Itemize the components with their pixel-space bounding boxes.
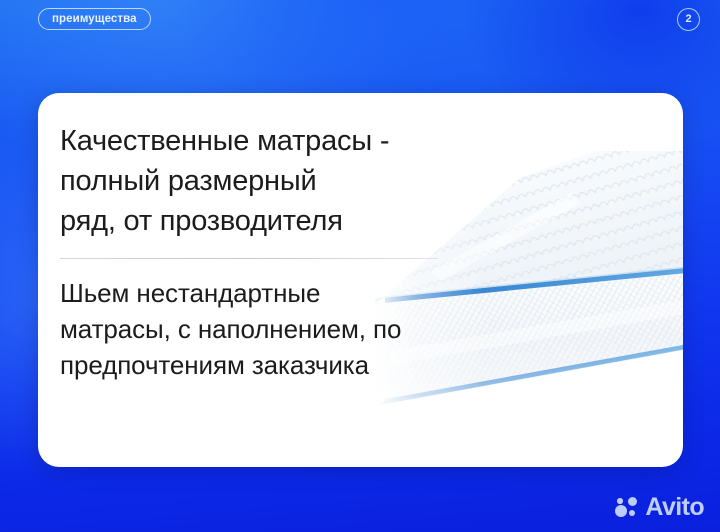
slide-number-label: 2 (685, 14, 691, 25)
avito-wordmark: Avito (645, 495, 704, 520)
content-card: Качественные матрасы - полный размерный … (38, 93, 683, 467)
avito-watermark: Avito (615, 495, 704, 520)
headline: Качественные матрасы - полный размерный … (60, 121, 580, 241)
slide-number-badge: 2 (677, 8, 700, 31)
category-badge-label: преимущества (52, 13, 137, 25)
category-badge: преимущества (38, 8, 151, 30)
subtext: Шьем нестандартные матрасы, с наполнение… (60, 275, 580, 383)
divider (60, 258, 438, 259)
promo-slide: преимущества 2 (0, 0, 720, 532)
avito-logo-icon (615, 497, 638, 518)
card-text-block: Качественные матрасы - полный размерный … (60, 121, 580, 383)
